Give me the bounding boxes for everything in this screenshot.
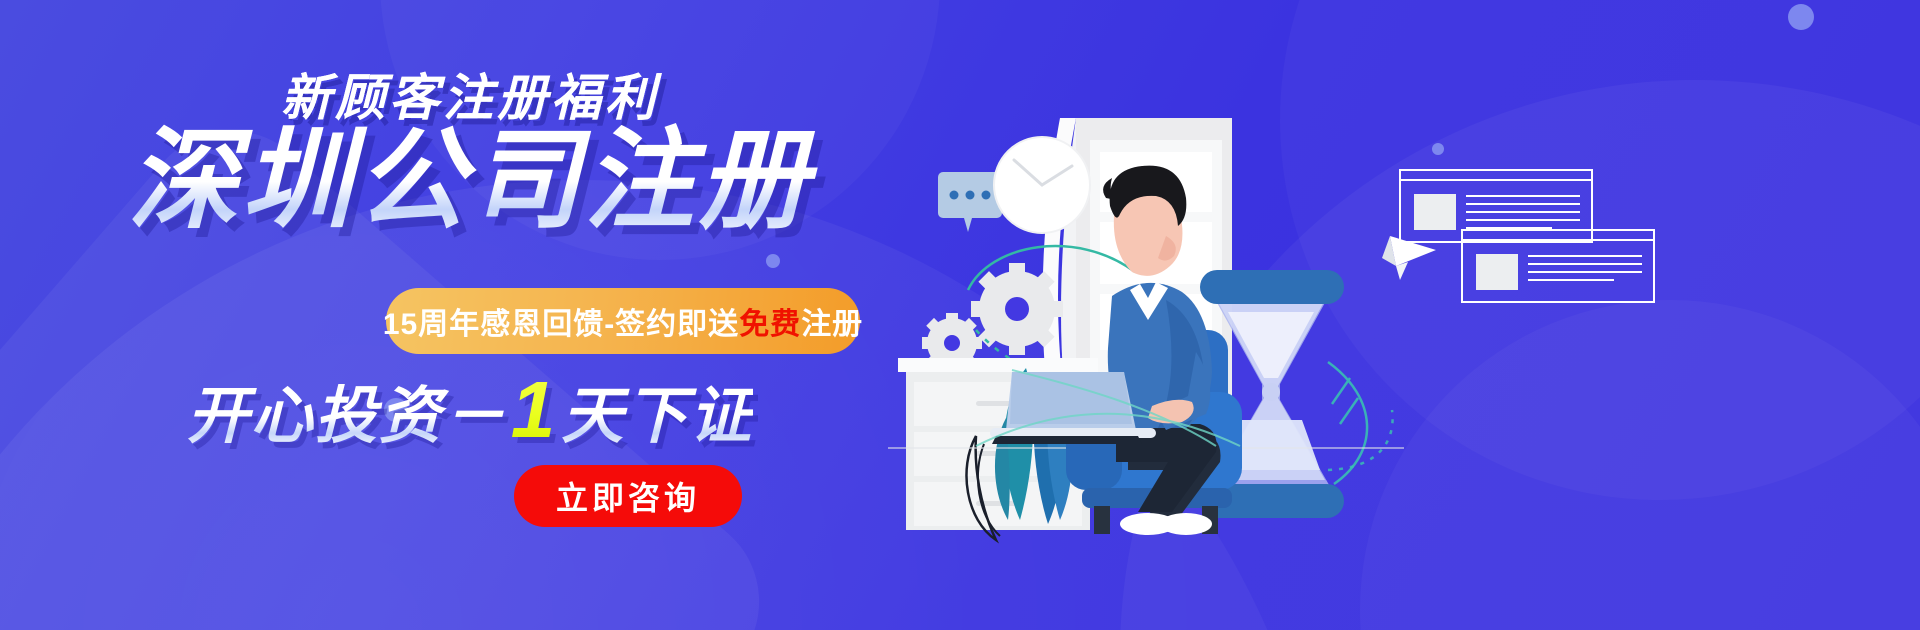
tagline-after: 天下证 xyxy=(561,382,753,451)
copy-block: 新顾客注册福利 深圳公司注册 15周年感恩回馈-签约即送免费注册 开心投资－1天… xyxy=(0,0,980,630)
document-card-bottom xyxy=(1462,230,1654,302)
promo-prefix: 15周年感恩回馈-签约即送 xyxy=(383,299,739,343)
hourglass-cap-top xyxy=(1200,270,1344,304)
consult-now-button[interactable]: 立即咨询 xyxy=(514,465,742,527)
tagline: 开心投资－1天下证 xyxy=(0,364,940,456)
document-card-top xyxy=(1400,170,1592,242)
promo-suffix: 注册 xyxy=(801,299,863,343)
page-title: 深圳公司注册 xyxy=(0,118,940,245)
promo-badge: 15周年感恩回馈-签约即送免费注册 xyxy=(386,288,860,354)
promo-banner: 新顾客注册福利 深圳公司注册 15周年感恩回馈-签约即送免费注册 开心投资－1天… xyxy=(0,0,1920,630)
tagline-number: 1 xyxy=(507,365,562,454)
hero-illustration xyxy=(880,0,1920,630)
chat-bubble-icon xyxy=(938,172,1002,232)
gear-large-icon xyxy=(971,263,1063,355)
clock-icon xyxy=(994,137,1090,233)
promo-highlight: 免费 xyxy=(739,299,801,343)
tagline-before: 开心投资－ xyxy=(187,382,507,451)
